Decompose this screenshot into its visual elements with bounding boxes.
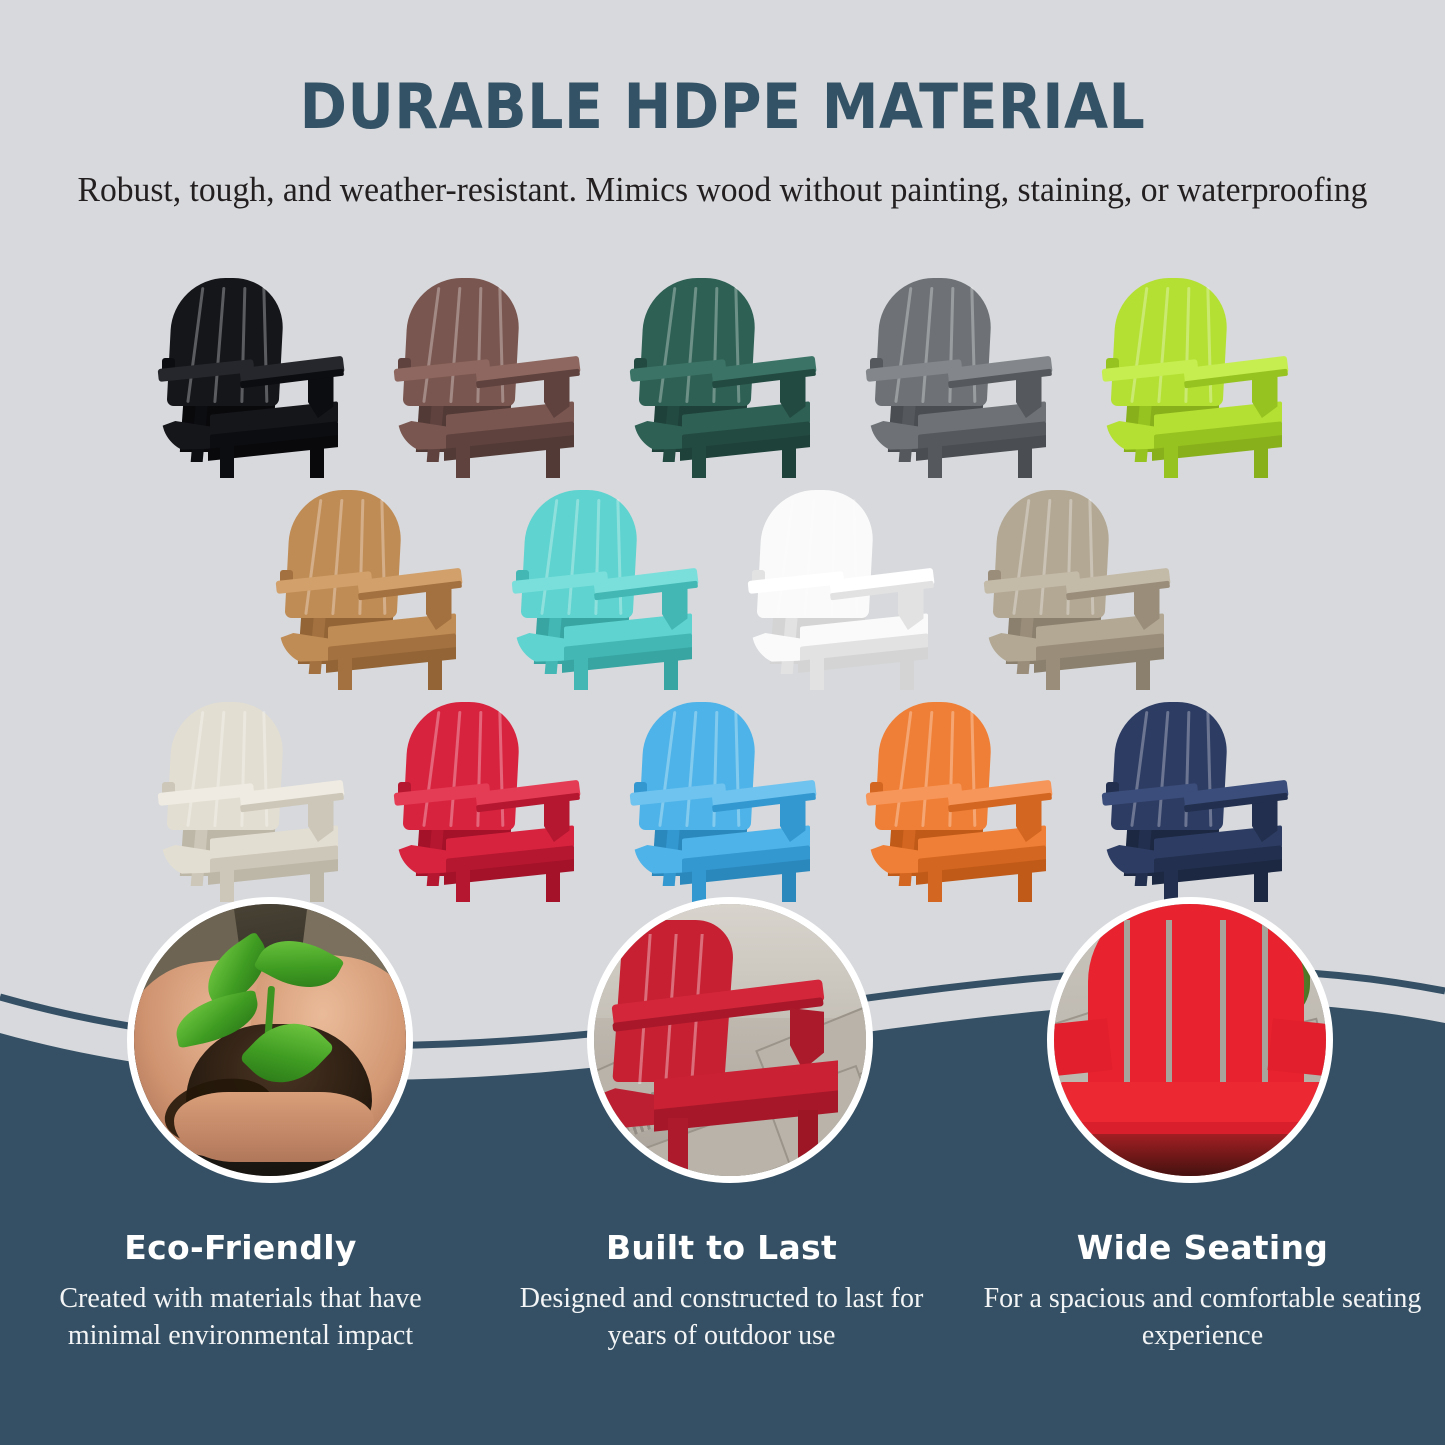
chair-fan-back	[166, 278, 285, 406]
wide-seating-photo	[1047, 897, 1333, 1183]
chair-front-leg	[1254, 864, 1268, 902]
feature-description: Created with materials that have minimal…	[18, 1281, 463, 1355]
chair-front-leg	[456, 446, 470, 478]
chair-swatch-brown[interactable]	[369, 272, 605, 484]
chair-fan-back	[638, 278, 757, 406]
adirondack-chair-icon	[512, 490, 698, 690]
chair-swatch-white[interactable]	[723, 484, 959, 696]
adirondack-chair-icon	[1102, 702, 1288, 902]
chair-fan-back	[874, 278, 993, 406]
chair-front-leg	[928, 446, 942, 478]
chair-swatch-gray[interactable]	[841, 272, 1077, 484]
chair-armrest	[1267, 1018, 1333, 1077]
adirondack-chair-icon	[1102, 278, 1288, 478]
adirondack-chair-icon	[630, 278, 816, 478]
chair-front-leg	[782, 440, 796, 478]
adirondack-chair-icon	[866, 702, 1052, 902]
page-subtitle: Robust, tough, and weather-resistant. Mi…	[29, 165, 1416, 215]
chair-front-leg	[310, 864, 324, 902]
chair-fan-back	[402, 278, 521, 406]
chair-swatch-red[interactable]	[369, 696, 605, 908]
eco-friendly-photo	[127, 897, 413, 1183]
chair-fan-back	[284, 490, 403, 618]
chair-front-leg	[1018, 440, 1032, 478]
chair-front-leg	[546, 440, 560, 478]
chair-color-grid	[0, 272, 1445, 908]
chair-front-leg	[220, 870, 234, 902]
chair-swatch-teak[interactable]	[251, 484, 487, 696]
built-to-last-photo	[587, 897, 873, 1183]
adirondack-chair-icon	[394, 702, 580, 902]
feature-title: Wide Seating	[980, 1228, 1425, 1267]
chair-swatch-navy-blue[interactable]	[1077, 696, 1313, 908]
feature-item: Eco-Friendly Created with materials that…	[0, 1228, 481, 1355]
chair-swatch-dark-green[interactable]	[605, 272, 841, 484]
adirondack-chair-icon	[394, 278, 580, 478]
chair-leg	[668, 1118, 688, 1183]
chair-front-leg	[310, 440, 324, 478]
chair-front-leg	[574, 658, 588, 690]
chair-fan-back	[1110, 278, 1229, 406]
chair-front-leg	[220, 446, 234, 478]
chair-front-leg	[338, 658, 352, 690]
adirondack-chair-icon	[158, 702, 344, 902]
adirondack-chair-icon	[158, 278, 344, 478]
header: DURABLE HDPE MATERIAL Robust, tough, and…	[0, 0, 1445, 215]
chair-fan-back	[638, 702, 757, 830]
chair-front-leg	[928, 870, 942, 902]
chair-front-leg	[546, 864, 560, 902]
chair-front-leg	[664, 652, 678, 690]
chair-fan-back	[1110, 702, 1229, 830]
chair-fan-back	[520, 490, 639, 618]
chair-row	[0, 696, 1445, 908]
chair-front-leg	[1164, 446, 1178, 478]
chair-swatch-black[interactable]	[133, 272, 369, 484]
chair-front-leg	[782, 864, 796, 902]
feature-description: Designed and constructed to last for yea…	[499, 1281, 944, 1355]
chair-front-leg	[456, 870, 470, 902]
chair-row	[0, 484, 1445, 696]
chair-front-leg	[692, 870, 706, 902]
adirondack-chair-icon	[984, 490, 1170, 690]
chair-fan-back	[756, 490, 875, 618]
chair-swatch-ivory[interactable]	[133, 696, 369, 908]
chair-fan-back	[992, 490, 1111, 618]
chair-swatch-lime-green[interactable]	[1077, 272, 1313, 484]
chair-fan-back	[874, 702, 993, 830]
chair-fan-back	[402, 702, 521, 830]
adirondack-chair-icon	[748, 490, 934, 690]
chair-leg	[798, 1110, 818, 1183]
feature-title: Built to Last	[499, 1228, 944, 1267]
chair-front-leg	[692, 446, 706, 478]
adirondack-chair-icon	[630, 702, 816, 902]
fingers	[174, 1092, 374, 1162]
chair-swatch-turquoise[interactable]	[487, 484, 723, 696]
chair-fan-back	[166, 702, 285, 830]
ground-shadow	[1054, 1134, 1326, 1176]
feature-description: For a spacious and comfortable seating e…	[980, 1281, 1425, 1355]
chair-swatch-light-blue[interactable]	[605, 696, 841, 908]
chair-armrest	[1047, 1018, 1113, 1077]
chair-front-leg	[810, 658, 824, 690]
chair-front-leg	[1046, 658, 1060, 690]
feature-title: Eco-Friendly	[18, 1228, 463, 1267]
chair-swatch-weathered-wood[interactable]	[959, 484, 1195, 696]
feature-item: Built to Last Designed and constructed t…	[481, 1228, 962, 1355]
page-title: DURABLE HDPE MATERIAL	[58, 74, 1387, 139]
feature-item: Wide Seating For a spacious and comforta…	[962, 1228, 1443, 1355]
chair-front-leg	[1018, 864, 1032, 902]
chair-front-leg	[900, 652, 914, 690]
chair-row	[0, 272, 1445, 484]
chair-front-leg	[428, 652, 442, 690]
chair-swatch-orange[interactable]	[841, 696, 1077, 908]
chair-front-leg	[1136, 652, 1150, 690]
adirondack-chair-icon	[866, 278, 1052, 478]
feature-list: Eco-Friendly Created with materials that…	[0, 1228, 1445, 1355]
adirondack-chair-icon	[276, 490, 462, 690]
chair-front-leg	[1254, 440, 1268, 478]
chair-seat	[1060, 1082, 1333, 1126]
